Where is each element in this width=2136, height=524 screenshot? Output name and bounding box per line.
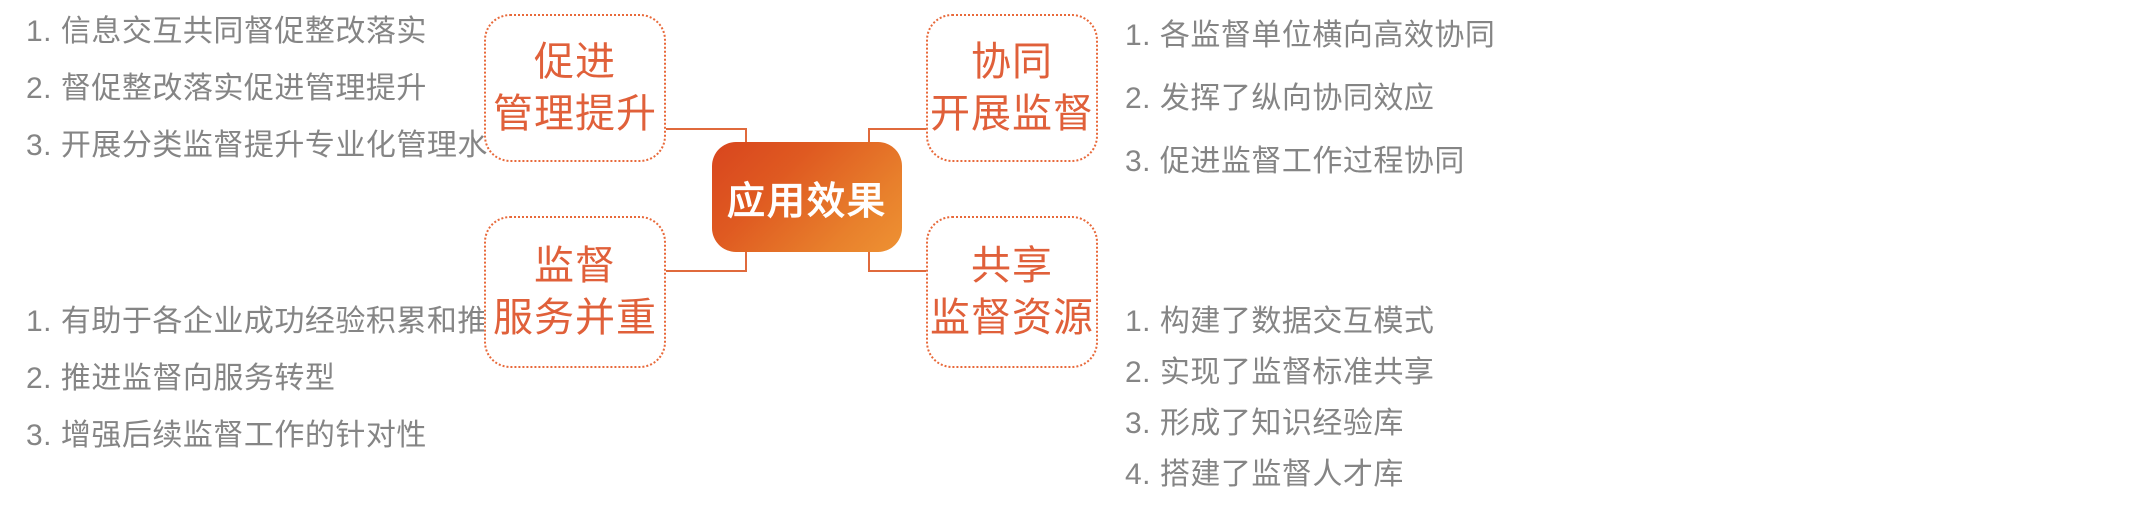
list-item: 2. 实现了监督标准共享 [1125,357,1434,388]
card-bottom-right-line2: 监督资源 [930,292,1094,344]
connector-bottom-left [666,270,746,272]
card-top-right-line1: 协同 [971,36,1053,88]
list-top-right: 1. 各监督单位横向高效协同 2. 发挥了纵向协同效应 3. 促进监督工作过程协… [1125,20,1495,209]
card-top-left-line2: 管理提升 [493,88,657,140]
diagram-canvas: 1. 信息交互共同督促整改落实 2. 督促整改落实促进管理提升 3. 开展分类监… [0,0,2136,524]
list-item: 3. 促进监督工作过程协同 [1125,146,1495,177]
list-top-left: 1. 信息交互共同督促整改落实 2. 督促整改落实促进管理提升 3. 开展分类监… [26,16,518,187]
list-item: 1. 构建了数据交互模式 [1125,306,1434,337]
list-item: 1. 各监督单位横向高效协同 [1125,20,1495,51]
list-item: 1. 信息交互共同督促整改落实 [26,16,518,47]
card-bottom-left[interactable]: 监督 服务并重 [484,216,666,368]
card-bottom-left-line1: 监督 [534,240,616,292]
list-item: 1. 有助于各企业成功经验积累和推广 [26,306,518,337]
list-bottom-right: 1. 构建了数据交互模式 2. 实现了监督标准共享 3. 形成了知识经验库 4.… [1125,306,1434,510]
center-node[interactable]: 应用效果 [712,142,902,252]
list-item: 3. 开展分类监督提升专业化管理水平 [26,130,518,161]
card-top-right-line2: 开展监督 [930,88,1094,140]
card-bottom-right-line1: 共享 [971,240,1053,292]
connector-bottom-right [868,270,928,272]
center-node-label: 应用效果 [727,170,887,225]
card-top-right[interactable]: 协同 开展监督 [926,14,1098,162]
list-item: 2. 发挥了纵向协同效应 [1125,83,1495,114]
list-item: 2. 推进监督向服务转型 [26,363,518,394]
list-bottom-left: 1. 有助于各企业成功经验积累和推广 2. 推进监督向服务转型 3. 增强后续监… [26,306,518,477]
card-top-left[interactable]: 促进 管理提升 [484,14,666,162]
connector-top-left [666,128,746,130]
card-bottom-right[interactable]: 共享 监督资源 [926,216,1098,368]
list-item: 4. 搭建了监督人才库 [1125,459,1434,490]
list-item: 3. 增强后续监督工作的针对性 [26,420,518,451]
connector-top-right [868,128,928,130]
list-item: 2. 督促整改落实促进管理提升 [26,73,518,104]
list-item: 3. 形成了知识经验库 [1125,408,1434,439]
card-bottom-left-line2: 服务并重 [493,292,657,344]
card-top-left-line1: 促进 [534,36,616,88]
